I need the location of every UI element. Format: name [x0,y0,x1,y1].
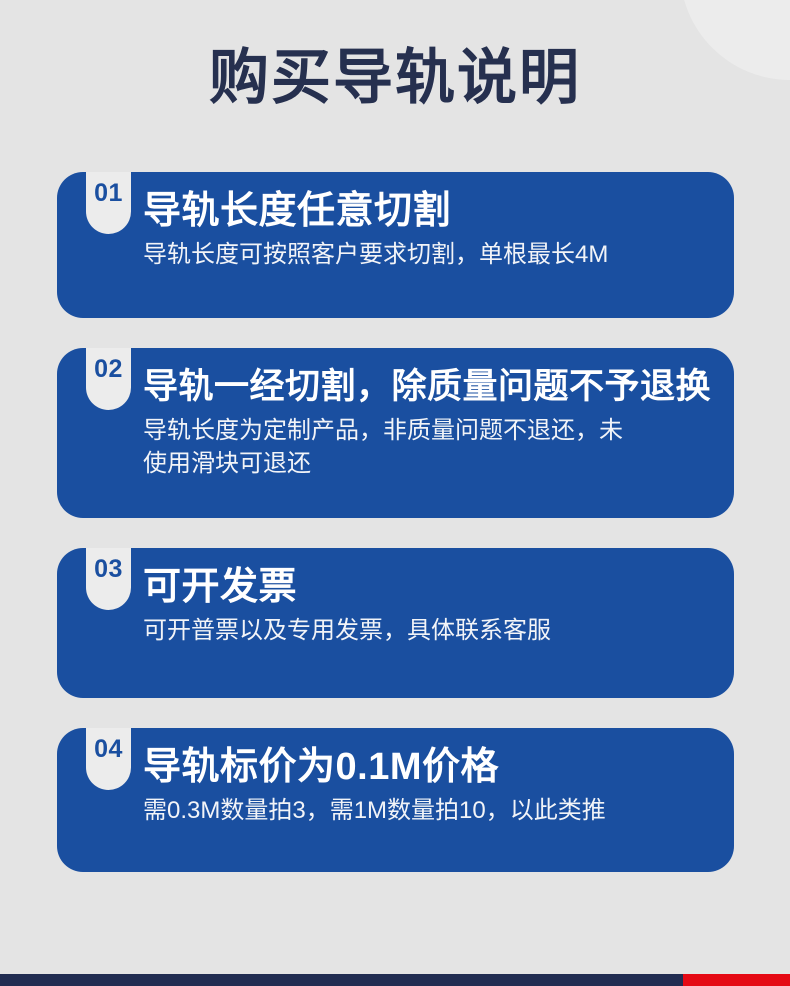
card-description: 导轨长度为定制产品，非质量问题不退还，未 使用滑块可退还 [143,414,716,480]
card-description-line: 使用滑块可退还 [143,447,716,480]
instruction-card-02: 02 导轨一经切割，除质量问题不予退换 导轨长度为定制产品，非质量问题不退还，未… [57,348,734,518]
card-number-badge: 04 [86,728,131,790]
card-description-line: 导轨长度为定制产品，非质量问题不退还，未 [143,414,716,447]
card-content: 导轨标价为0.1M价格 需0.3M数量拍3，需1M数量拍10，以此类推 [143,744,716,827]
card-number-label: 02 [94,357,123,382]
instruction-card-01: 01 导轨长度任意切割 导轨长度可按照客户要求切割，单根最长4M [57,172,734,318]
card-description: 可开普票以及专用发票，具体联系客服 [143,614,716,647]
card-heading: 导轨一经切割，除质量问题不予退换 [143,364,716,410]
instruction-card-list: 01 导轨长度任意切割 导轨长度可按照客户要求切割，单根最长4M 02 导轨一经… [57,172,734,872]
page-title: 购买导轨说明 [0,42,790,114]
page-root: 购买导轨说明 01 导轨长度任意切割 导轨长度可按照客户要求切割，单根最长4M … [0,0,790,986]
footer-bar-red-segment [683,974,790,986]
card-content: 导轨长度任意切割 导轨长度可按照客户要求切割，单根最长4M [143,188,716,271]
card-number-badge: 01 [86,172,131,234]
card-description-line: 可开普票以及专用发票，具体联系客服 [143,614,716,647]
card-description: 需0.3M数量拍3，需1M数量拍10，以此类推 [143,794,716,827]
card-heading: 可开发票 [143,564,716,610]
instruction-card-03: 03 可开发票 可开普票以及专用发票，具体联系客服 [57,548,734,698]
card-number-badge: 03 [86,548,131,610]
card-description: 导轨长度可按照客户要求切割，单根最长4M [143,238,716,271]
footer-bar-navy-segment [0,974,683,986]
card-description-line: 导轨长度可按照客户要求切割，单根最长4M [143,238,716,271]
card-content: 导轨一经切割，除质量问题不予退换 导轨长度为定制产品，非质量问题不退还，未 使用… [143,364,716,480]
card-number-label: 04 [94,737,123,762]
instruction-card-04: 04 导轨标价为0.1M价格 需0.3M数量拍3，需1M数量拍10，以此类推 [57,728,734,872]
card-number-badge: 02 [86,348,131,410]
card-content: 可开发票 可开普票以及专用发票，具体联系客服 [143,564,716,647]
card-number-label: 01 [94,181,123,206]
card-number-label: 03 [94,557,123,582]
footer-accent-bar [0,974,790,986]
card-heading: 导轨标价为0.1M价格 [143,744,716,790]
card-description-line: 需0.3M数量拍3，需1M数量拍10，以此类推 [143,794,716,827]
card-heading: 导轨长度任意切割 [143,188,716,234]
